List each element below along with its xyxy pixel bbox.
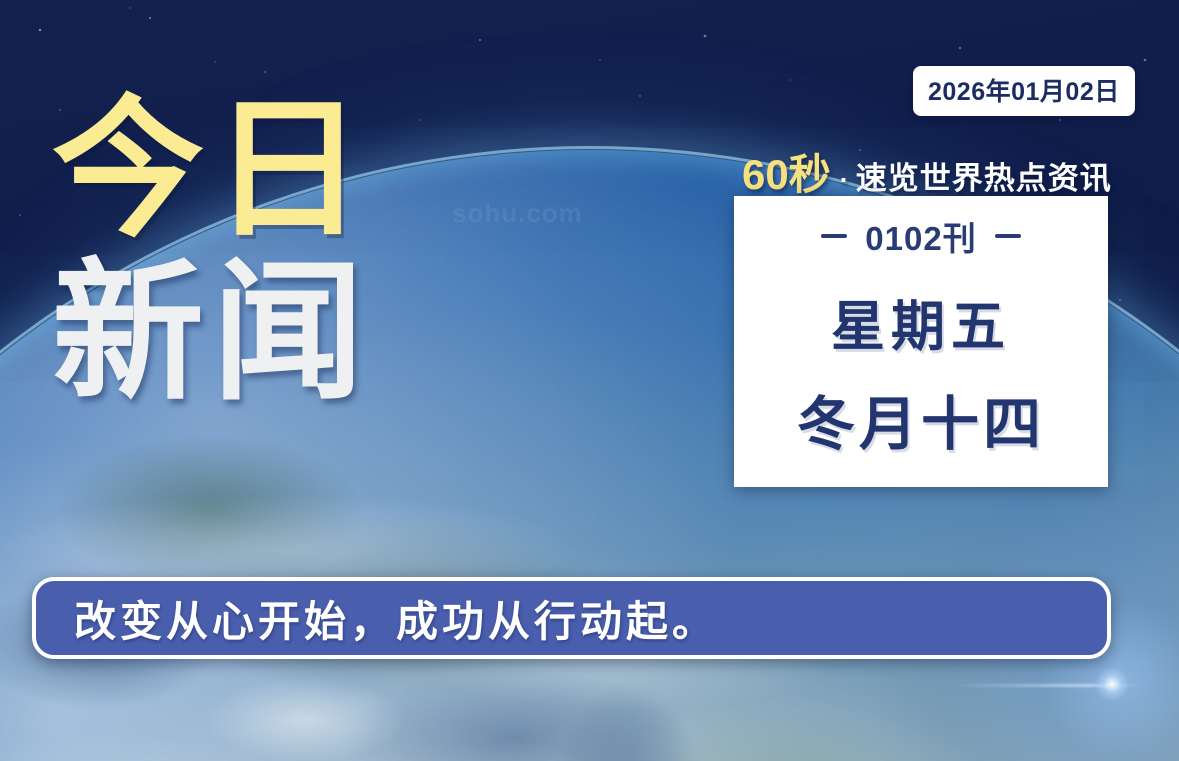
tagline: 60秒 · 速览世界热点资讯 xyxy=(742,141,1112,202)
page-title: 今日 新闻 xyxy=(52,96,372,408)
lunar-date-label: 冬月十四 xyxy=(797,377,1045,461)
quote-text: 改变从心开始，成功从行动起。 xyxy=(74,588,718,649)
news-poster: sohu.com 今日 新闻 2026年01月02日 60秒 · 速览世界热点资… xyxy=(0,0,1179,761)
weekday-label: 星期五 xyxy=(831,282,1011,361)
title-line-2: 新闻 xyxy=(52,259,372,408)
date-badge: 2026年01月02日 xyxy=(913,66,1135,116)
title-line-1: 今日 xyxy=(52,96,372,245)
lens-flare-core xyxy=(1095,667,1129,701)
issue-row: 0102刊 xyxy=(821,212,1020,260)
quote-banner: 改变从心开始，成功从行动起。 xyxy=(32,577,1111,659)
tagline-description: 速览世界热点资讯 xyxy=(856,153,1112,198)
issue-number: 0102刊 xyxy=(865,212,976,260)
dash-left-icon xyxy=(821,234,847,238)
issue-info-card: 0102刊 星期五 冬月十四 xyxy=(734,196,1108,487)
dash-right-icon xyxy=(995,234,1021,238)
tagline-seconds: 60秒 xyxy=(742,141,831,202)
watermark-text: sohu.com xyxy=(452,198,583,229)
tagline-separator: · xyxy=(840,165,849,196)
